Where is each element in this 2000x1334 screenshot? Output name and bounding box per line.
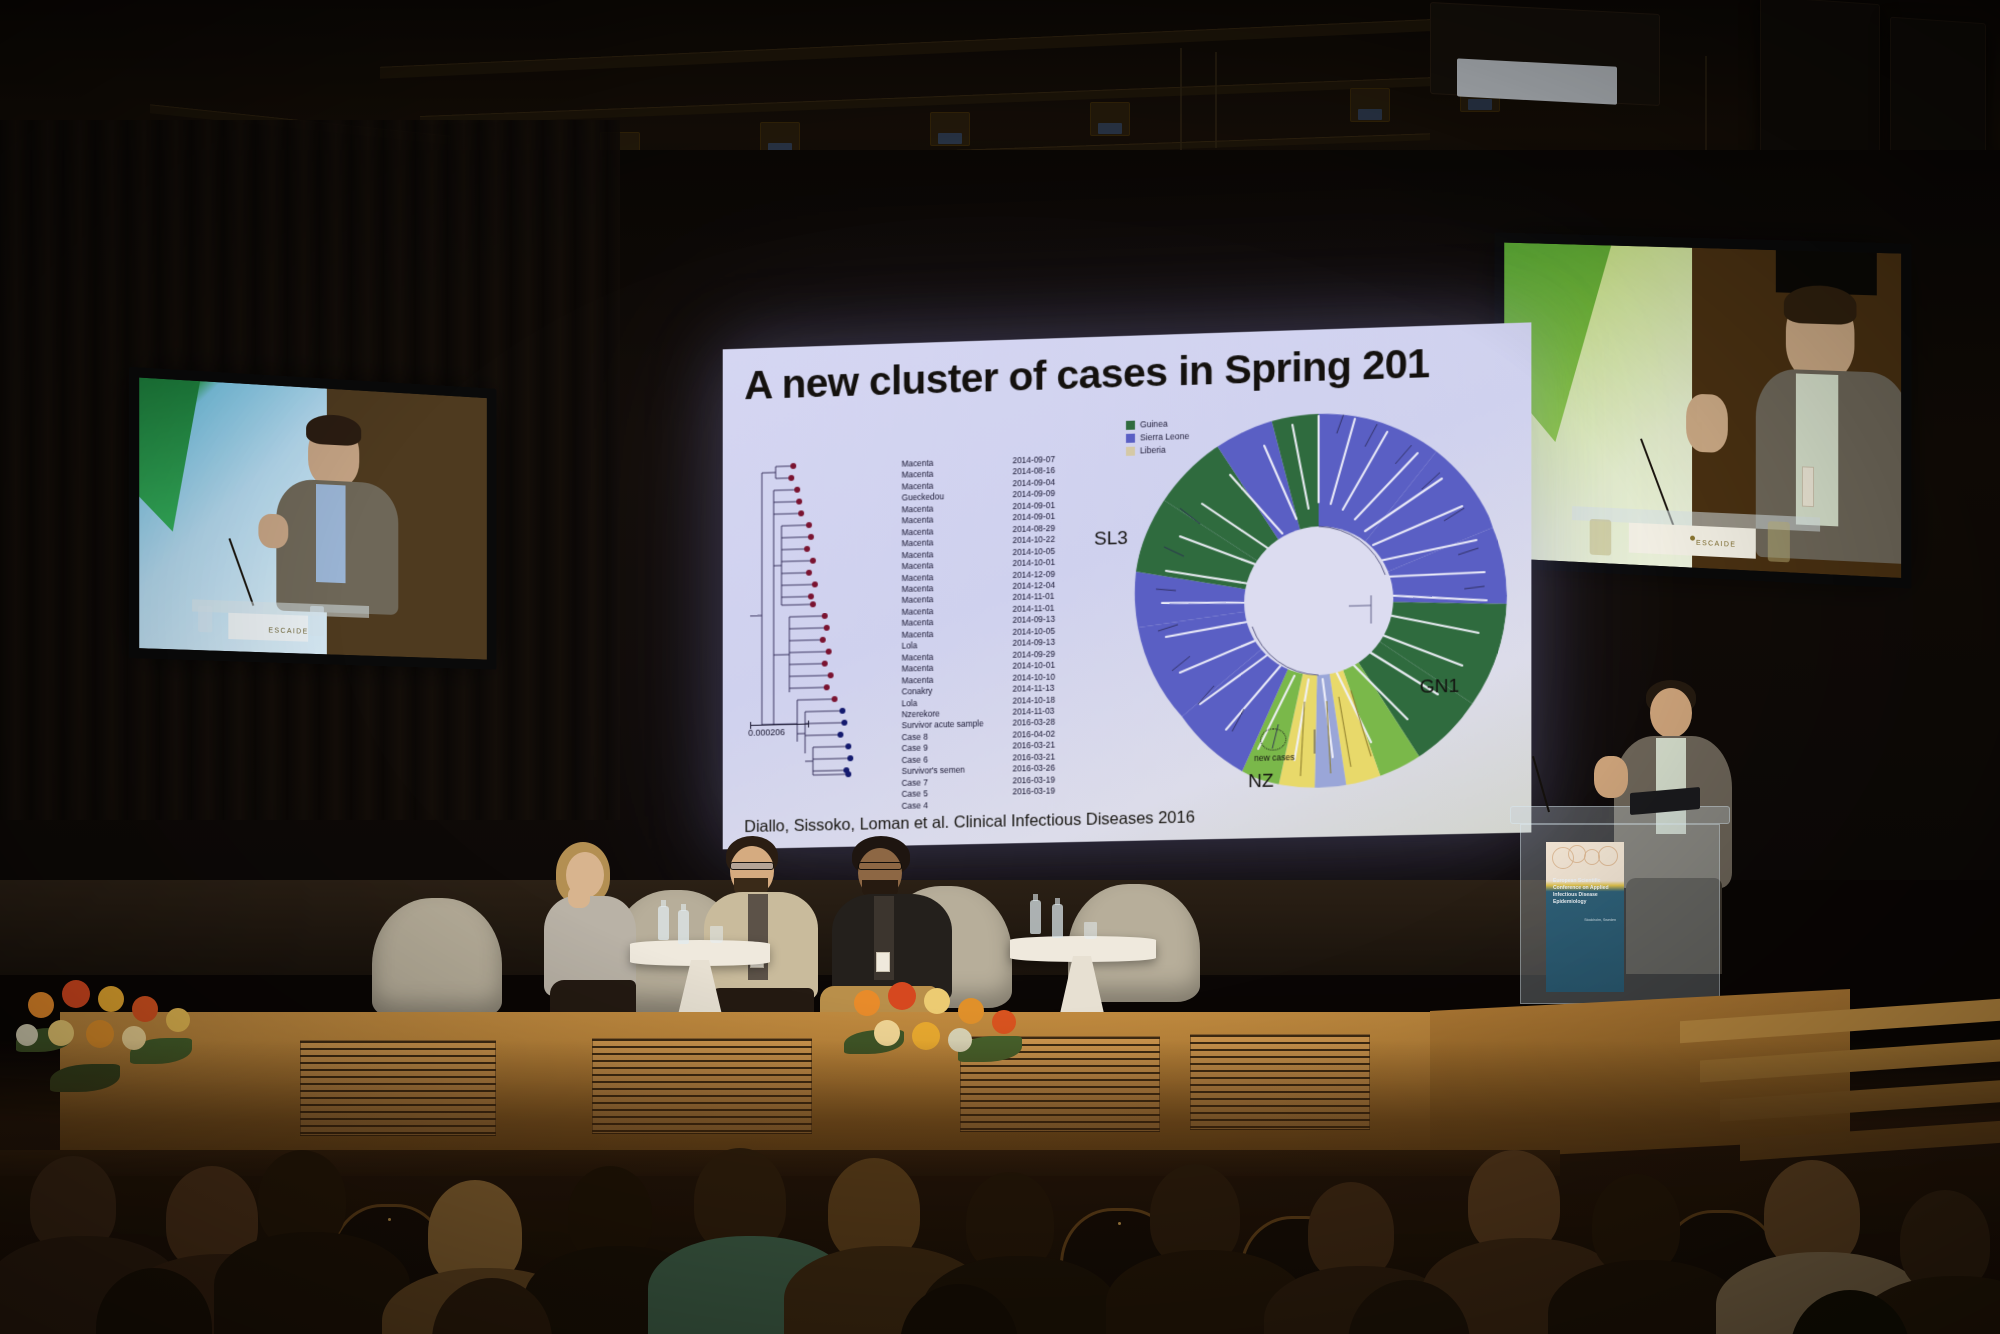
chair-stud: [388, 1218, 391, 1221]
right-screen-bezel: [1494, 232, 1911, 588]
rig-cable-1: [1180, 48, 1182, 154]
panelist-center-glasses: [730, 862, 774, 870]
panelist-right-glasses: [858, 862, 902, 870]
flower: [888, 982, 916, 1010]
water-bottle-1: [658, 906, 669, 940]
flower: [854, 990, 880, 1016]
panelist-left-hand: [568, 886, 590, 908]
scale-bar-line: [750, 724, 809, 726]
slide-surface: A new cluster of cases in Spring 201: [723, 322, 1532, 849]
radial-label-gn1: GN1: [1420, 676, 1460, 699]
flower: [992, 1010, 1016, 1034]
radial-label-new-cases: new cases: [1254, 752, 1294, 763]
lectern-banner-title: European Scientific Conference on Applie…: [1553, 878, 1618, 906]
rig-cable-2: [1215, 52, 1217, 148]
scale-bar-label: 0.000206: [748, 727, 785, 738]
main-projection-screen: A new cluster of cases in Spring 201: [723, 322, 1532, 849]
stage-light-5: [1350, 88, 1390, 122]
phylogeny-tip-labels: Macenta2014-09-07 Macenta2014-08-16 Mace…: [902, 453, 1098, 812]
chair-stud: [1118, 1222, 1121, 1225]
water-bottle-4: [1052, 904, 1063, 938]
audience-shoulders: [214, 1232, 410, 1334]
stage-light-3: [930, 112, 970, 146]
flower: [98, 986, 124, 1012]
banner-ring-graphic: [1550, 845, 1620, 869]
armchair-1: [372, 898, 502, 1018]
radial-tree-svg: [1118, 393, 1521, 806]
slide-citation: Diallo, Sissoko, Loman et al. Clinical I…: [744, 808, 1195, 837]
flower: [62, 980, 90, 1008]
left-screen-bezel: [129, 367, 497, 670]
ceiling-projector-housing: [1430, 2, 1660, 106]
water-bottle-3: [1030, 900, 1041, 934]
water-bottle-2: [678, 910, 689, 944]
scale-bar: 0.000206: [748, 724, 809, 738]
audience-head: [1592, 1174, 1680, 1274]
banner-ring-4: [1598, 846, 1618, 866]
flower: [166, 1008, 190, 1032]
presenter-head: [1650, 688, 1692, 738]
flower: [132, 996, 158, 1022]
radial-phylogeny: SL3 GN1 NZ new cases: [1118, 393, 1521, 806]
radial-label-sl3: SL3: [1094, 528, 1128, 551]
water-glass-1: [710, 926, 723, 943]
lectern-banner: European Scientific Conference on Applie…: [1546, 842, 1624, 992]
truss-beam-upper: [380, 13, 1560, 79]
flower: [924, 988, 950, 1014]
stage-light-4: [1090, 102, 1130, 136]
panelist-left: [540, 842, 650, 1012]
audience-area: [0, 1040, 2000, 1334]
water-glass-2: [1084, 922, 1097, 939]
rectangular-phylogeny: Macenta2014-09-07 Macenta2014-08-16 Mace…: [740, 416, 1136, 795]
flower: [28, 992, 54, 1018]
radial-label-nz: NZ: [1248, 771, 1273, 794]
conference-hall-scene: ESCAIDE ESCAIDE: [0, 0, 2000, 1334]
lectern-banner-subtitle: Stockholm, Sweden: [1584, 918, 1616, 922]
tip-date: [1012, 796, 1098, 809]
flower: [958, 998, 984, 1024]
tip-name: Case 4: [902, 798, 1013, 812]
presenter-hand: [1594, 756, 1628, 798]
